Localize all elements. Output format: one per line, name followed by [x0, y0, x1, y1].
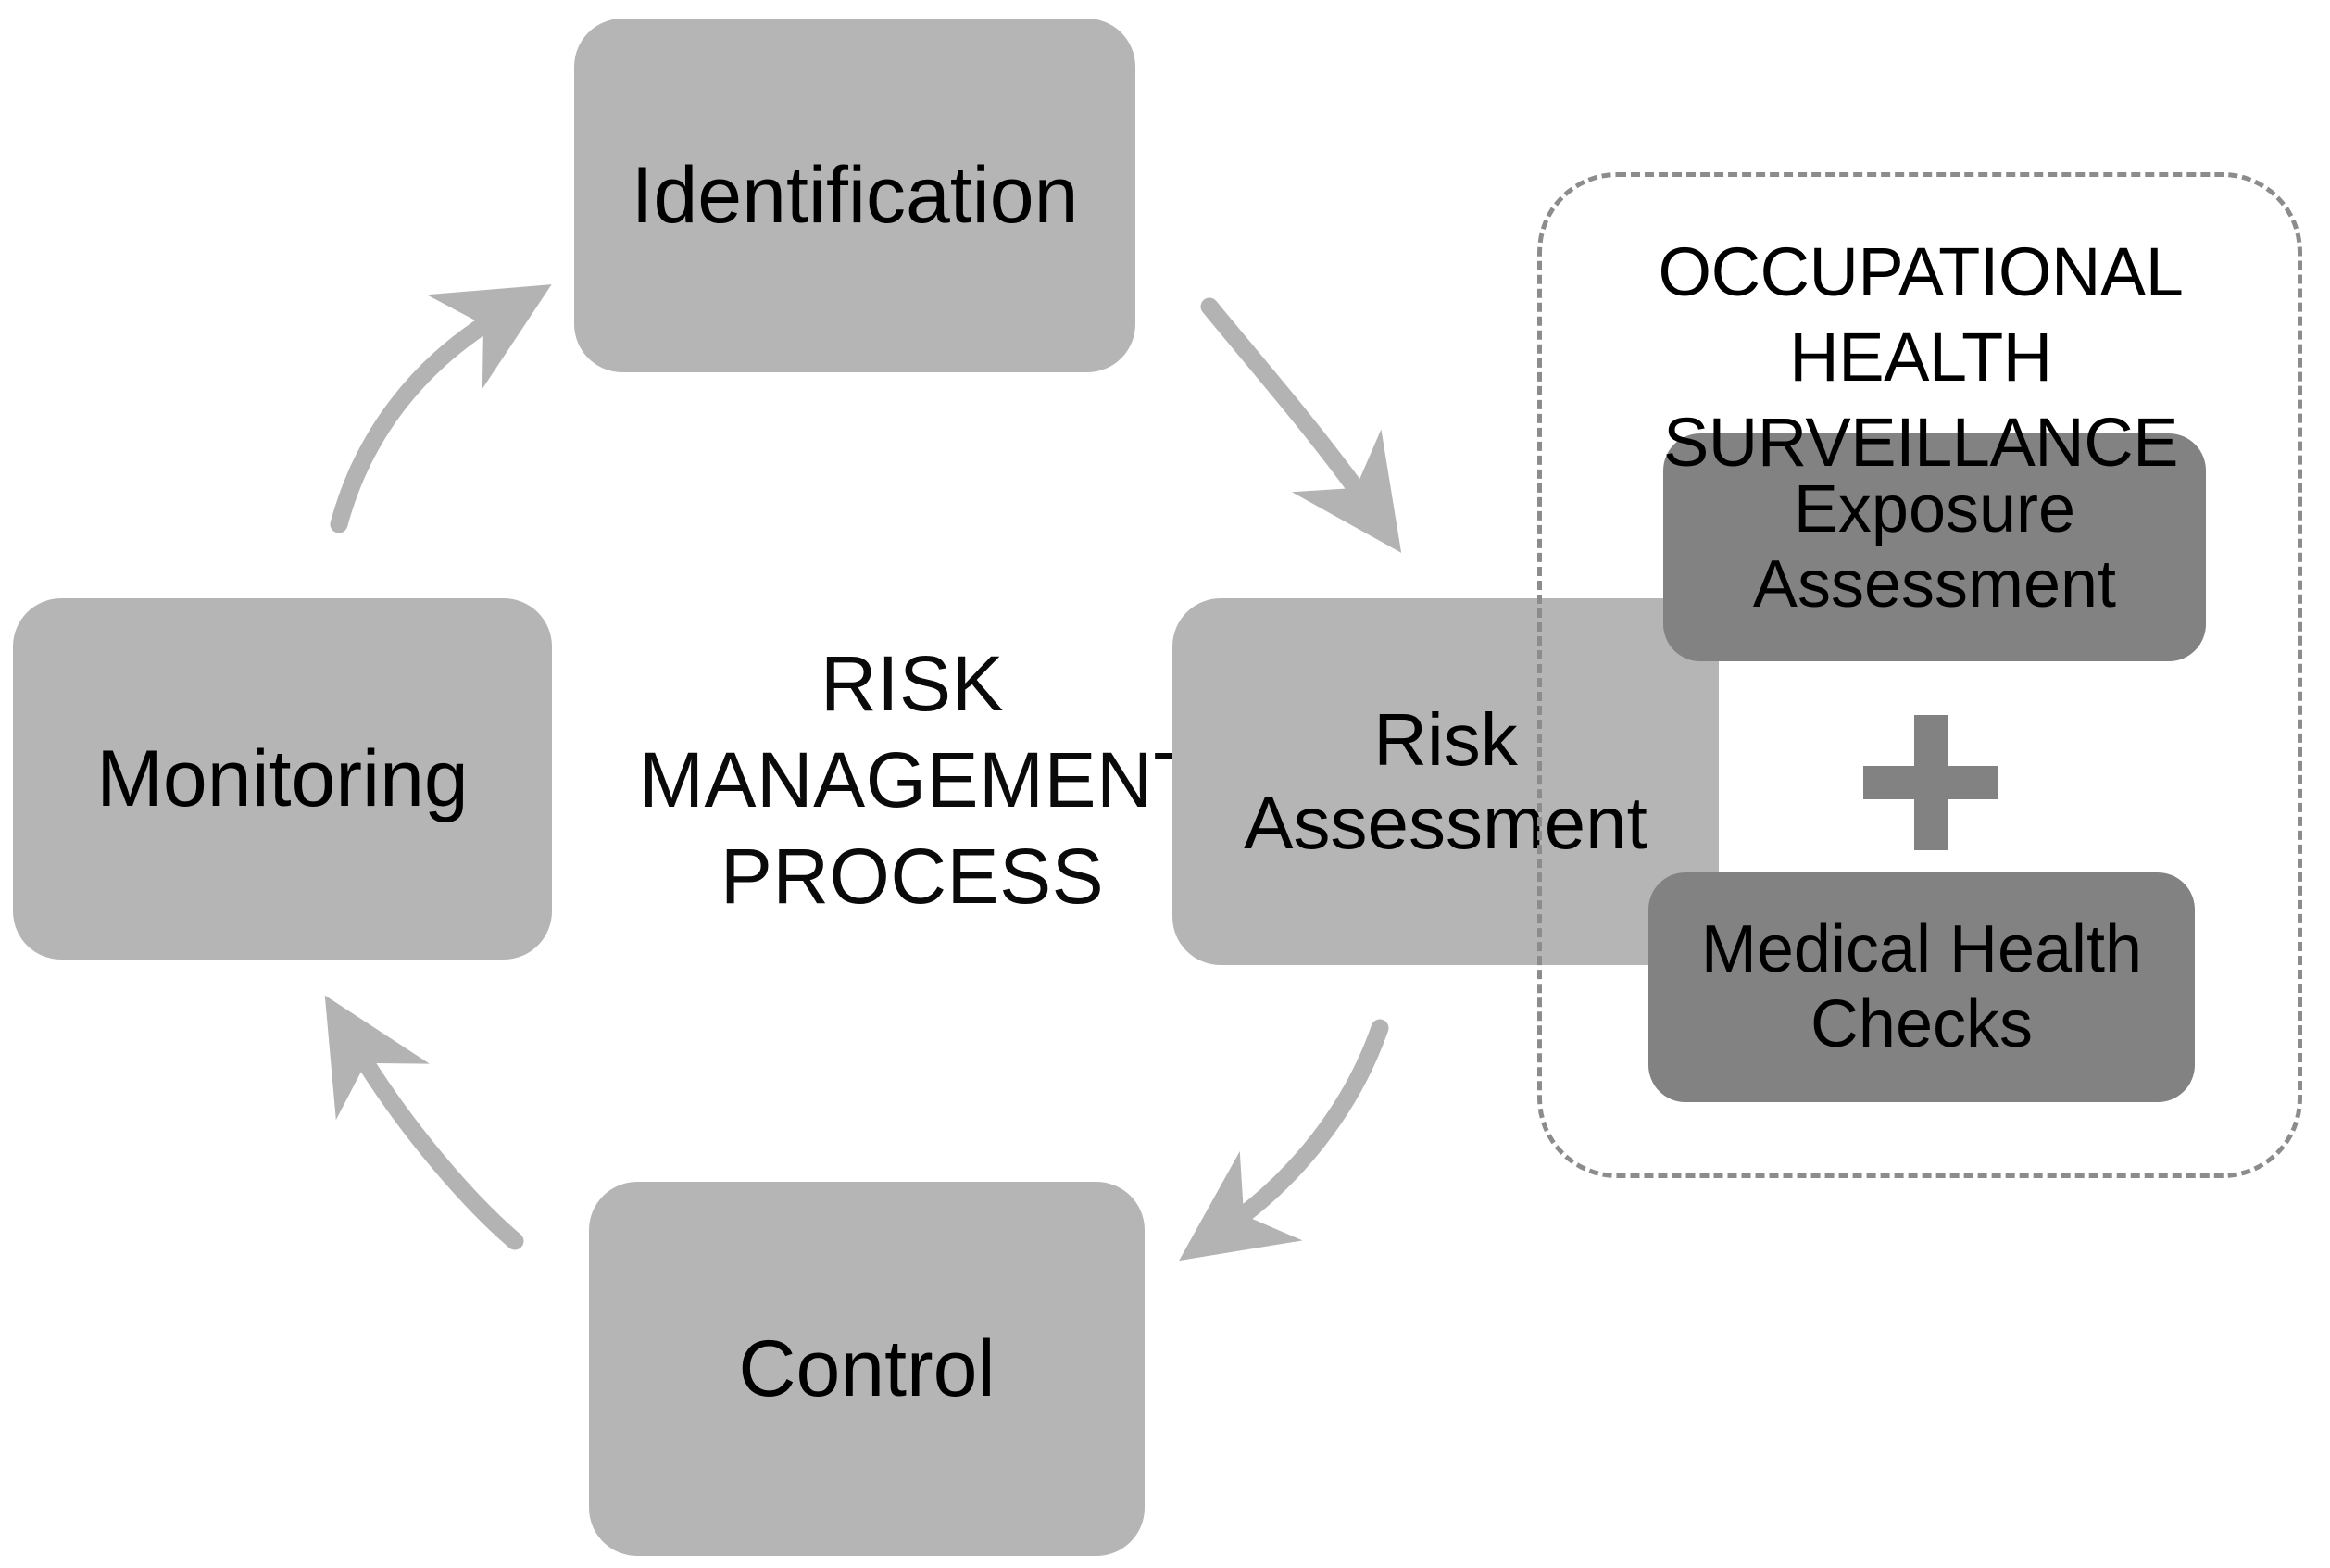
node-medical-health-checks[interactable]: Medical Health Checks: [1648, 872, 2195, 1102]
plus-icon: [1863, 715, 1998, 850]
process-center-label-line1: RISK: [639, 635, 1185, 732]
node-medical-health-checks-label-line2: Checks: [1810, 987, 2033, 1061]
process-center-label: RISK MANAGEMENT PROCESS: [639, 635, 1185, 924]
arrow-monitoring-to-identification: [339, 315, 500, 524]
surveillance-title-line1: OCCUPATIONAL HEALTH: [1548, 230, 2293, 400]
node-risk-assessment[interactable]: Risk Assessment: [1172, 598, 1719, 965]
node-exposure-assessment-label: Exposure Assessment: [1753, 472, 2116, 621]
process-center-label-line3: PROCESS: [639, 828, 1185, 924]
node-risk-assessment-label-line1: Risk: [1373, 698, 1518, 781]
occupational-health-surveillance-title: OCCUPATIONAL HEALTH SURVEILLANCE: [1548, 230, 2293, 484]
diagram-canvas: Identification Monitoring Control Risk A…: [0, 0, 2330, 1568]
node-medical-health-checks-label-line1: Medical Health: [1701, 912, 2142, 986]
process-center-label-line2: MANAGEMENT: [639, 732, 1185, 828]
node-medical-health-checks-label: Medical Health Checks: [1701, 912, 2142, 1061]
arrow-control-to-monitoring: [356, 1047, 515, 1241]
arrow-risk-assessment-to-control: [1228, 1028, 1380, 1226]
node-exposure-assessment-label-line2: Assessment: [1753, 547, 2116, 621]
plus-icon-horizontal-bar: [1863, 766, 1998, 799]
node-risk-assessment-label-line2: Assessment: [1244, 782, 1647, 864]
node-risk-assessment-label: Risk Assessment: [1244, 698, 1647, 864]
arrow-identification-to-risk-assessment: [1209, 307, 1367, 504]
surveillance-title-line2: SURVEILLANCE: [1548, 400, 2293, 485]
